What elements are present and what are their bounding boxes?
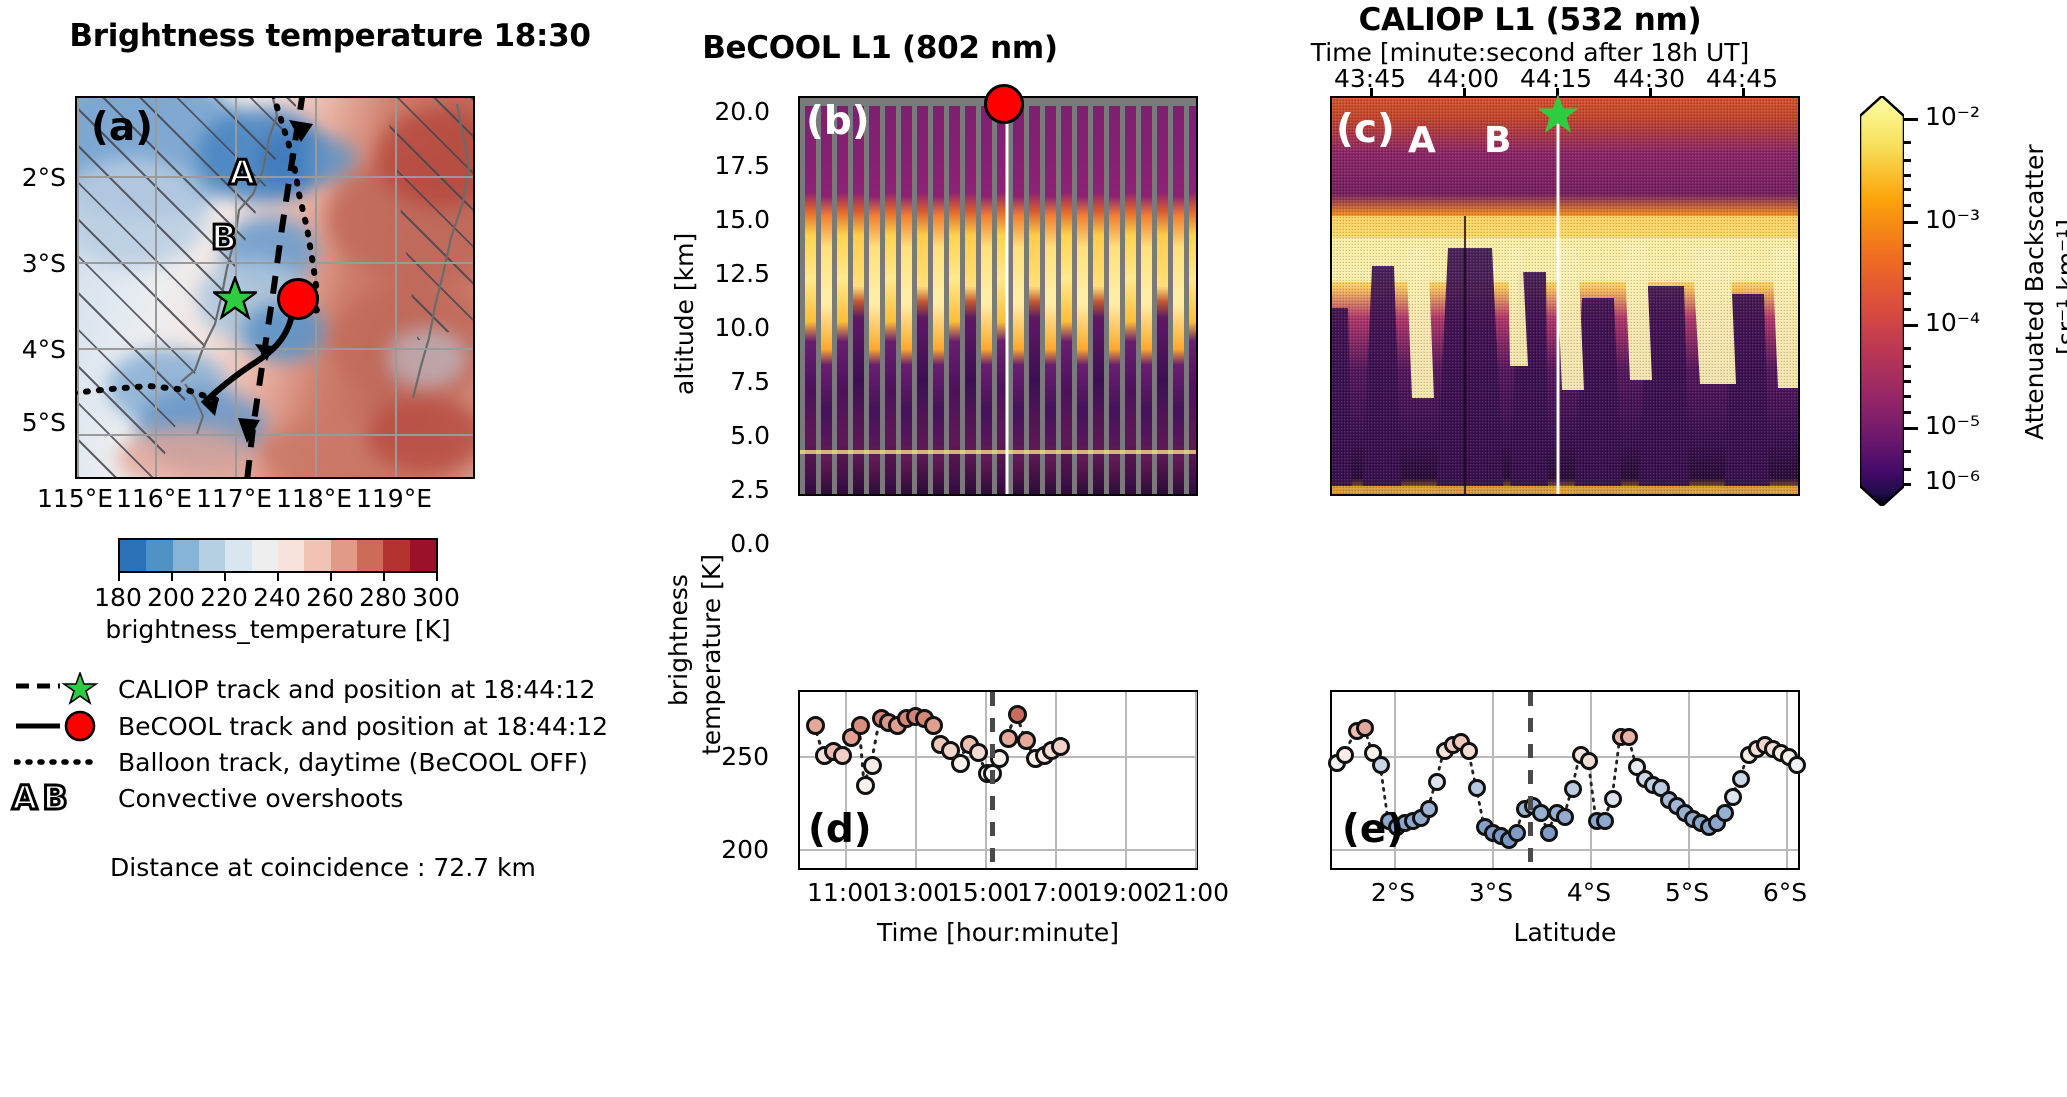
panel-d-scatter[interactable]: (d)	[798, 690, 1198, 870]
legend-text-caliop: CALIOP track and position at 18:44:12	[118, 675, 638, 704]
colorbar-c-tick-1e-6: 10⁻⁶	[1925, 466, 1980, 495]
legend-footer-distance: Distance at coincidence : 72.7 km	[110, 853, 650, 882]
panel-e-xtick-5S: 5°S	[1640, 878, 1734, 907]
colorbar-c-label: Attenuated Backscatter	[2020, 144, 2049, 440]
colorbar-attenuated-backscatter	[1860, 96, 1904, 506]
panel-c-top-axis-label: Time [minute:second after 18h UT]	[1280, 38, 1780, 67]
map-overshoot-label-b: B	[211, 218, 237, 258]
panel-a-label: (a)	[91, 108, 153, 147]
legend-marker-overshoot-ab: AB	[12, 778, 73, 817]
panel-c-title: CALIOP L1 (532 nm)	[1300, 2, 1760, 38]
map-overshoot-label-a: A	[229, 153, 255, 193]
colorbar-c-ticks	[1904, 96, 1920, 506]
colorbar-ticks	[118, 573, 438, 581]
map-becool-circle-icon	[277, 278, 319, 320]
panel-d-ytick-200: 200	[705, 835, 769, 864]
map-tracks	[77, 98, 475, 479]
panel-b-ytick-5.0: 5.0	[690, 421, 770, 450]
panel-e-coincidence-line	[1528, 692, 1533, 872]
panel-b-ytick-20.0: 20.0	[690, 97, 770, 126]
panel-a-xtick-118E: 118°E	[268, 484, 360, 513]
panel-e-scatter[interactable]: (e)	[1330, 690, 1800, 870]
panel-b-lidar-curtain[interactable]: (b)	[798, 96, 1198, 496]
legend-marker-caliop	[14, 672, 108, 708]
panel-a-ytick-4S: 4°S	[0, 335, 66, 364]
colorbar-brightness-temperature	[118, 538, 438, 573]
panel-b-ytick-10.0: 10.0	[690, 313, 770, 342]
panel-e-xtick-2S: 2°S	[1346, 878, 1440, 907]
legend-marker-becool	[14, 709, 108, 745]
legend-text-overshoot: Convective overshoots	[118, 784, 598, 813]
panel-c-label: (c)	[1336, 110, 1395, 149]
panel-b-ytick-7.5: 7.5	[690, 367, 770, 396]
panel-a-xtick-116E: 116°E	[108, 484, 200, 513]
panel-d-ytick-250: 250	[705, 742, 769, 771]
panel-a-ytick-2S: 2°S	[0, 163, 66, 192]
panel-a-xtick-119E: 119°E	[348, 484, 440, 513]
panel-c-caliop-curtain[interactable]: (c) A B	[1330, 96, 1800, 496]
panel-e-xlabel: Latitude	[1330, 918, 1800, 947]
colorbar-tick-300: 300	[404, 583, 468, 612]
panel-c-caliop-star-icon	[1538, 94, 1578, 134]
panel-e-xtick-4S: 4°S	[1542, 878, 1636, 907]
panel-b-ytick-17.5: 17.5	[690, 151, 770, 180]
panel-b-ytick-12.5: 12.5	[690, 259, 770, 288]
colorbar-label: brightness_temperature [K]	[88, 615, 468, 644]
legend-text-balloon: Balloon track, daytime (BeCOOL OFF)	[118, 748, 678, 777]
colorbar-c-units: [sr⁻¹ km⁻¹]	[2052, 219, 2067, 355]
panel-d-ylabel-line1: brightness	[664, 574, 693, 706]
panel-b-becool-marker-icon	[984, 84, 1024, 124]
colorbar-c-tick-1e-2: 10⁻²	[1925, 102, 1980, 131]
colorbar-c-tick-1e-3: 10⁻³	[1925, 205, 1980, 234]
panel-e-xtick-6S: 6°S	[1738, 878, 1832, 907]
panel-a-ytick-5S: 5°S	[0, 408, 66, 437]
panel-a-ytick-3S: 3°S	[0, 249, 66, 278]
panel-c-annotation-a: A	[1408, 120, 1436, 161]
panel-b-title: BeCOOL L1 (802 nm)	[680, 30, 1080, 66]
panel-a-title: Brightness temperature 18:30	[30, 18, 630, 54]
panel-c-annotation-b: B	[1484, 120, 1511, 161]
panel-a-xtick-117E: 117°E	[188, 484, 280, 513]
colorbar-c-tick-1e-5: 10⁻⁵	[1925, 411, 1980, 440]
panel-e-xtick-3S: 3°S	[1444, 878, 1538, 907]
panel-d-xtick-2100: 21:00	[1146, 878, 1240, 907]
panel-d-label: (d)	[808, 810, 872, 849]
panel-d-xlabel: Time [hour:minute]	[798, 918, 1198, 947]
panel-e-label: (e)	[1342, 810, 1404, 849]
colorbar-c-tick-1e-4: 10⁻⁴	[1925, 308, 1980, 337]
panel-d-coincidence-line	[990, 692, 995, 872]
panel-d-ylabel-line2: temperature [K]	[697, 554, 726, 755]
map-caliop-star-icon	[213, 276, 257, 320]
panel-b-label: (b)	[806, 102, 870, 141]
legend-text-becool: BeCOOL track and position at 18:44:12	[118, 712, 638, 741]
panel-b-ytick-15.0: 15.0	[690, 205, 770, 234]
panel-b-ytick-2.5: 2.5	[690, 475, 770, 504]
legend-marker-balloon	[14, 746, 108, 776]
panel-a-map[interactable]: A B (a)	[75, 96, 475, 479]
